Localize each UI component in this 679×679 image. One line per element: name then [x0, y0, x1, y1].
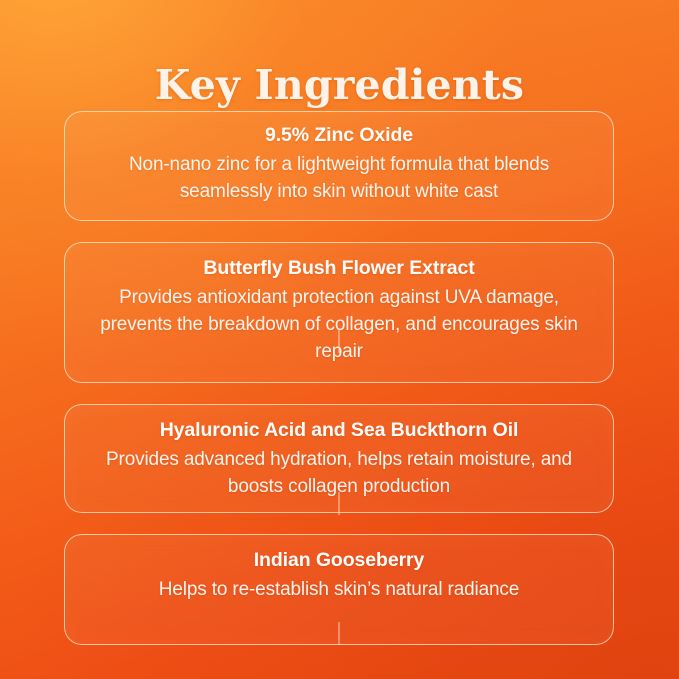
card-connector-line [339, 330, 340, 353]
ingredient-name: 9.5% Zinc Oxide [87, 123, 591, 148]
ingredient-card: 9.5% Zinc Oxide Non-nano zinc for a ligh… [64, 111, 614, 221]
ingredient-name: Indian Gooseberry [87, 548, 591, 573]
page-title: Key Ingredients [0, 63, 679, 109]
ingredient-card-list: 9.5% Zinc Oxide Non-nano zinc for a ligh… [64, 111, 614, 645]
ingredient-description: Provides antioxidant protection against … [87, 285, 591, 366]
ingredient-description: Helps to re-establish skin’s natural rad… [87, 577, 591, 604]
ingredient-description: Non-nano zinc for a lightweight formula … [87, 152, 591, 206]
card-connector-line [339, 492, 340, 515]
card-connector-line [339, 622, 340, 645]
poster-content: Key Ingredients 9.5% Zinc Oxide Non-nano… [0, 0, 679, 679]
ingredient-name: Hyaluronic Acid and Sea Buckthorn Oil [87, 418, 591, 443]
ingredient-card: Butterfly Bush Flower Extract Provides a… [64, 242, 614, 383]
key-ingredients-poster: Key Ingredients 9.5% Zinc Oxide Non-nano… [0, 0, 679, 679]
ingredient-name: Butterfly Bush Flower Extract [87, 256, 591, 281]
